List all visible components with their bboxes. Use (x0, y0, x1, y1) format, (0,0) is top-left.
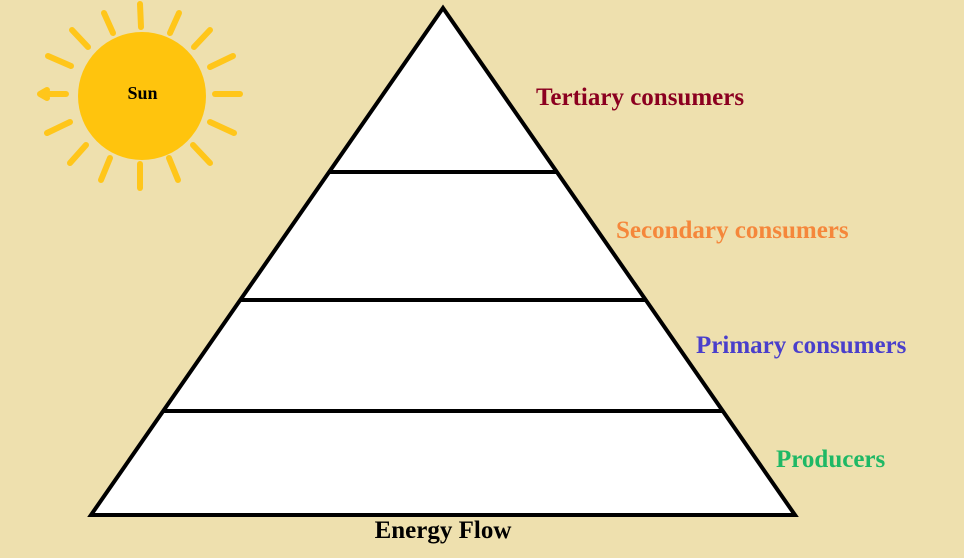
level-label-producers: Producers (776, 447, 885, 472)
level-label-tertiary-consumers: Tertiary consumers (536, 85, 744, 110)
energy-pyramid-diagram: Sun Tertiary consumers Secondary consume… (0, 0, 964, 558)
level-label-secondary-consumers: Secondary consumers (616, 218, 849, 243)
sun-label: Sun (78, 84, 207, 102)
level-label-primary-consumers: Primary consumers (696, 333, 906, 358)
energy-flow-caption: Energy Flow (0, 518, 886, 543)
